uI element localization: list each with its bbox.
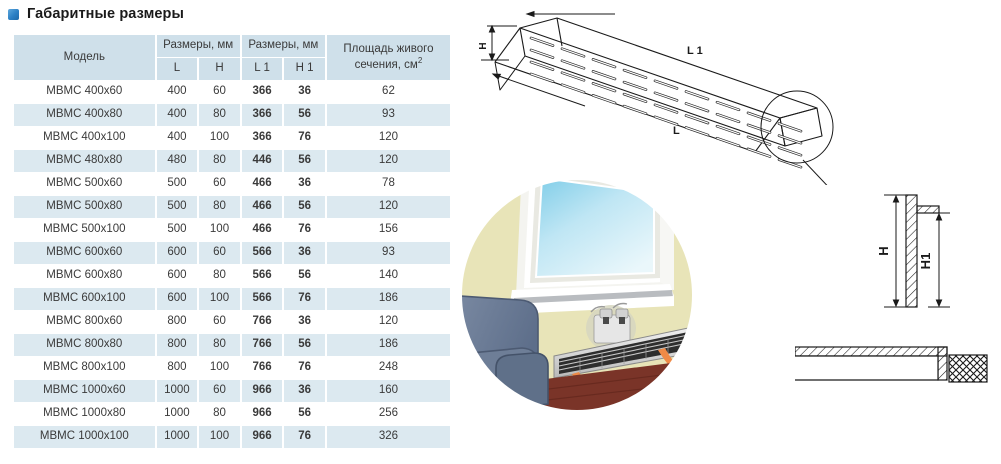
blue-square-bullet-icon bbox=[8, 9, 19, 20]
section-heading: Габаритные размеры bbox=[8, 6, 184, 22]
table-row: МВМС 800x10080010076676248 bbox=[14, 357, 450, 379]
cell-h: 60 bbox=[199, 81, 240, 103]
table-row: МВМС 480x804808044656120 bbox=[14, 150, 450, 172]
cell-l1: 966 bbox=[242, 403, 283, 425]
cell-h1: 76 bbox=[284, 357, 325, 379]
cell-h1: 56 bbox=[284, 265, 325, 287]
model: МВМС 400x60 bbox=[14, 81, 155, 103]
model: МВМС 400x80 bbox=[14, 104, 155, 126]
table-row: МВМС 400x10040010036676120 bbox=[14, 127, 450, 149]
cell-l1: 966 bbox=[242, 380, 283, 402]
label-L1: L 1 bbox=[687, 45, 703, 57]
cell-h: 80 bbox=[199, 403, 240, 425]
cell-h: 80 bbox=[199, 334, 240, 356]
cell-l1: 366 bbox=[242, 104, 283, 126]
cell-l1: 566 bbox=[242, 288, 283, 310]
dimensions-table: Модель Размеры, мм Размеры, мм Площадь ж… bbox=[12, 34, 452, 449]
table-body: МВМС 400x60400603663662МВМС 400x80400803… bbox=[14, 81, 450, 448]
cell-l: 400 bbox=[157, 127, 198, 149]
th-free-area-line1: Площадь живого bbox=[343, 43, 433, 55]
table-row: МВМС 600x10060010056676186 bbox=[14, 288, 450, 310]
cell-l: 600 bbox=[157, 265, 198, 287]
cell-h: 80 bbox=[199, 104, 240, 126]
cell-h: 60 bbox=[199, 311, 240, 333]
model: МВМС 400x100 bbox=[14, 127, 155, 149]
model: МВМС 500x100 bbox=[14, 219, 155, 241]
table-row: МВМС 1000x100100010096676326 bbox=[14, 426, 450, 448]
cell-l1: 366 bbox=[242, 81, 283, 103]
cell-h1: 56 bbox=[284, 196, 325, 218]
cell-h1: 36 bbox=[284, 380, 325, 402]
table-row: МВМС 500x805008046656120 bbox=[14, 196, 450, 218]
cell-area: 140 bbox=[327, 265, 450, 287]
cell-area: 120 bbox=[327, 196, 450, 218]
model: МВМС 600x100 bbox=[14, 288, 155, 310]
cell-area: 93 bbox=[327, 242, 450, 264]
model: МВМС 600x80 bbox=[14, 265, 155, 287]
th-sub-h: H bbox=[199, 58, 240, 80]
cell-l: 1000 bbox=[157, 426, 198, 448]
table-row: МВМС 1000x8010008096656256 bbox=[14, 403, 450, 425]
th-sub-l1: L 1 bbox=[242, 58, 283, 80]
detail-circle bbox=[761, 91, 833, 163]
table-header: Модель Размеры, мм Размеры, мм Площадь ж… bbox=[14, 35, 450, 80]
cell-area: 248 bbox=[327, 357, 450, 379]
cell-area: 156 bbox=[327, 219, 450, 241]
th-free-area-line2: сечения, см bbox=[355, 59, 418, 71]
model: МВМС 500x80 bbox=[14, 196, 155, 218]
cell-h1: 76 bbox=[284, 426, 325, 448]
label-H1-section: H1 bbox=[918, 253, 933, 270]
table-row: МВМС 1000x6010006096636160 bbox=[14, 380, 450, 402]
cell-l: 600 bbox=[157, 288, 198, 310]
cell-h: 100 bbox=[199, 219, 240, 241]
cell-h1: 36 bbox=[284, 242, 325, 264]
figures-panel: H L 1 L bbox=[455, 0, 1001, 464]
label-H: H bbox=[478, 42, 489, 49]
table-row: МВМС 500x10050010046676156 bbox=[14, 219, 450, 241]
th-sub-l: L bbox=[157, 58, 198, 80]
cell-l1: 466 bbox=[242, 219, 283, 241]
table-row: МВМС 400x80400803665693 bbox=[14, 104, 450, 126]
model: МВМС 1000x100 bbox=[14, 426, 155, 448]
table-row: МВМС 800x608006076636120 bbox=[14, 311, 450, 333]
cell-area: 256 bbox=[327, 403, 450, 425]
th-sub-h1: H 1 bbox=[284, 58, 325, 80]
cell-h: 100 bbox=[199, 127, 240, 149]
table-row: МВМС 400x60400603663662 bbox=[14, 81, 450, 103]
page-title: Габаритные размеры bbox=[27, 6, 184, 22]
cell-l1: 466 bbox=[242, 173, 283, 195]
sofa bbox=[460, 296, 548, 410]
table-row: МВМС 600x806008056656140 bbox=[14, 265, 450, 287]
table-header-row-1: Модель Размеры, мм Размеры, мм Площадь ж… bbox=[14, 35, 450, 57]
cell-l: 800 bbox=[157, 357, 198, 379]
model: МВМС 1000x80 bbox=[14, 403, 155, 425]
cell-area: 78 bbox=[327, 173, 450, 195]
cell-l: 1000 bbox=[157, 403, 198, 425]
cell-h: 60 bbox=[199, 242, 240, 264]
th-free-area-sup: 2 bbox=[418, 56, 422, 65]
room-installation-illustration bbox=[460, 178, 694, 412]
model: МВМС 1000x60 bbox=[14, 380, 155, 402]
cell-l1: 446 bbox=[242, 150, 283, 172]
isometric-grille-drawing: H L 1 L bbox=[465, 0, 865, 185]
cell-l1: 466 bbox=[242, 196, 283, 218]
model: МВМС 800x60 bbox=[14, 311, 155, 333]
cell-l: 1000 bbox=[157, 380, 198, 402]
model: МВМС 600x60 bbox=[14, 242, 155, 264]
cell-h1: 36 bbox=[284, 173, 325, 195]
cell-h: 80 bbox=[199, 196, 240, 218]
label-H-section: H bbox=[876, 246, 891, 255]
cell-h1: 76 bbox=[284, 288, 325, 310]
th-group-inner: Размеры, мм bbox=[242, 35, 325, 57]
cell-l1: 766 bbox=[242, 357, 283, 379]
th-model: Модель bbox=[14, 35, 155, 80]
table-row: МВМС 800x808008076656186 bbox=[14, 334, 450, 356]
cell-l: 500 bbox=[157, 196, 198, 218]
cell-area: 120 bbox=[327, 311, 450, 333]
cell-l1: 566 bbox=[242, 242, 283, 264]
th-group-outer: Размеры, мм bbox=[157, 35, 240, 57]
cell-l: 400 bbox=[157, 81, 198, 103]
cell-l: 480 bbox=[157, 150, 198, 172]
cell-h: 100 bbox=[199, 357, 240, 379]
cell-h: 60 bbox=[199, 380, 240, 402]
cell-h: 100 bbox=[199, 288, 240, 310]
cell-l1: 566 bbox=[242, 265, 283, 287]
model: МВМС 480x80 bbox=[14, 150, 155, 172]
cell-l: 500 bbox=[157, 173, 198, 195]
cell-h1: 56 bbox=[284, 150, 325, 172]
th-free-area: Площадь живого сечения, см2 bbox=[327, 35, 450, 80]
cell-l1: 966 bbox=[242, 426, 283, 448]
detail-leader-line bbox=[803, 160, 837, 185]
bottom-section-drawing bbox=[795, 335, 1001, 395]
cell-area: 62 bbox=[327, 81, 450, 103]
cell-area: 93 bbox=[327, 104, 450, 126]
cell-h: 100 bbox=[199, 426, 240, 448]
model: МВМС 800x80 bbox=[14, 334, 155, 356]
model: МВМС 500x60 bbox=[14, 173, 155, 195]
label-L: L bbox=[673, 125, 680, 137]
cell-area: 120 bbox=[327, 150, 450, 172]
cell-l1: 766 bbox=[242, 311, 283, 333]
cell-l: 400 bbox=[157, 104, 198, 126]
cell-h1: 56 bbox=[284, 334, 325, 356]
dimensions-table-wrapper: Модель Размеры, мм Размеры, мм Площадь ж… bbox=[12, 34, 452, 449]
cell-area: 160 bbox=[327, 380, 450, 402]
side-section-drawing: H H1 bbox=[850, 185, 1000, 315]
cell-h: 80 bbox=[199, 265, 240, 287]
cell-h1: 76 bbox=[284, 127, 325, 149]
cell-area: 120 bbox=[327, 127, 450, 149]
cell-l1: 366 bbox=[242, 127, 283, 149]
cell-h1: 76 bbox=[284, 219, 325, 241]
cell-h1: 56 bbox=[284, 104, 325, 126]
cell-h1: 36 bbox=[284, 81, 325, 103]
cell-h1: 36 bbox=[284, 311, 325, 333]
cell-h: 60 bbox=[199, 173, 240, 195]
cell-l1: 766 bbox=[242, 334, 283, 356]
cell-h: 80 bbox=[199, 150, 240, 172]
cell-h1: 56 bbox=[284, 403, 325, 425]
cell-area: 186 bbox=[327, 334, 450, 356]
cell-area: 186 bbox=[327, 288, 450, 310]
table-row: МВМС 600x60600605663693 bbox=[14, 242, 450, 264]
model: МВМС 800x100 bbox=[14, 357, 155, 379]
cell-l: 800 bbox=[157, 311, 198, 333]
cell-l: 500 bbox=[157, 219, 198, 241]
cell-l: 800 bbox=[157, 334, 198, 356]
table-row: МВМС 500x60500604663678 bbox=[14, 173, 450, 195]
cell-area: 326 bbox=[327, 426, 450, 448]
cell-l: 600 bbox=[157, 242, 198, 264]
